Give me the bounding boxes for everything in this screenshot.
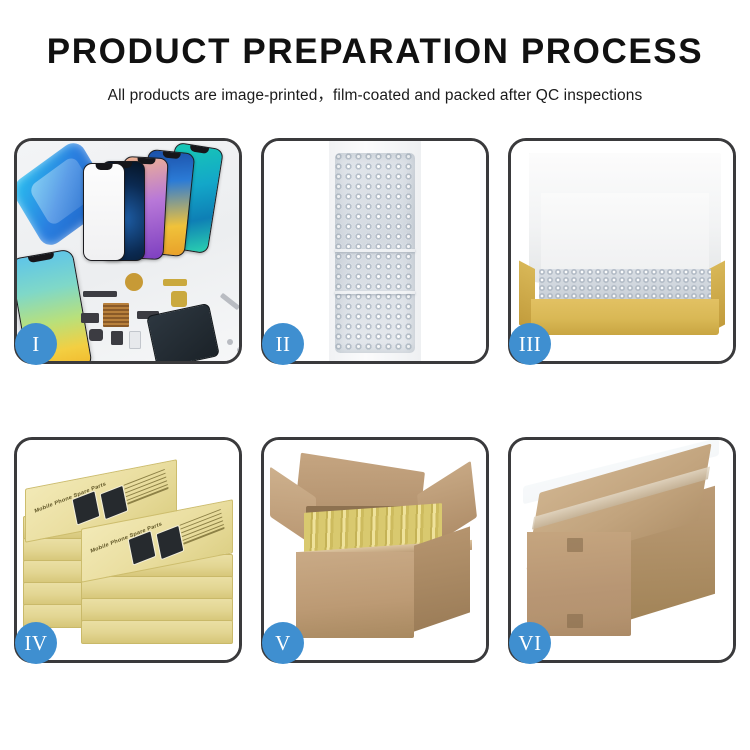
antenna-strip-icon: [83, 291, 117, 297]
step-card-1[interactable]: I: [14, 138, 242, 364]
bubble-wrap-seam-icon: [335, 249, 415, 252]
phone-notch-icon: [28, 253, 55, 263]
step-card-5[interactable]: V: [261, 437, 489, 663]
step-card-2[interactable]: II: [261, 138, 489, 364]
phone-white-front-glass-icon: [83, 163, 125, 261]
step-badge-5: V: [262, 622, 304, 664]
step-card-4[interactable]: Mobile Phone Spare Parts Mobile P: [14, 437, 242, 663]
carton-side-panel-icon: [414, 526, 470, 631]
phone-notch-icon: [189, 145, 209, 154]
flex-cable-icon: [163, 279, 187, 286]
connector-chip-icon: [103, 303, 129, 327]
carton-handle-cut-icon: [567, 538, 583, 552]
tweezers-icon: [220, 293, 239, 310]
product-preparation-page: PRODUCT PREPARATION PROCESS All products…: [0, 0, 750, 750]
box-stack-group: Mobile Phone Spare Parts Mobile P: [23, 458, 239, 654]
stacked-box-edge: [81, 576, 233, 600]
phone-notch-icon: [162, 151, 181, 159]
screw-icon: [237, 347, 239, 353]
step-badge-4: IV: [15, 622, 57, 664]
step-card-6[interactable]: VI: [508, 437, 736, 663]
page-title: PRODUCT PREPARATION PROCESS: [0, 34, 750, 69]
box-spec-lines-icon: [180, 509, 227, 553]
step-badge-2: II: [262, 323, 304, 365]
bubble-wrapped-contents-icon: [539, 269, 711, 303]
kraft-box-front-icon: [531, 299, 719, 335]
step-badge-1: I: [15, 323, 57, 365]
stacked-box-edge: [81, 598, 233, 622]
step-badge-3: III: [509, 323, 551, 365]
stacked-box-edge: [81, 620, 233, 644]
phone-fan-group: [83, 143, 239, 261]
speaker-module-icon: [125, 273, 143, 291]
carton-front-panel-icon: [296, 552, 414, 638]
bubble-wrap-seam-icon: [335, 291, 415, 294]
phone-notch-icon: [96, 164, 113, 170]
page-header: PRODUCT PREPARATION PROCESS All products…: [0, 0, 750, 105]
foam-insert-icon: [541, 193, 709, 271]
carton-handle-cut-icon: [567, 614, 583, 628]
small-part-icon: [129, 331, 141, 349]
screw-icon: [227, 339, 233, 345]
page-subtitle: All products are image-printed，film-coat…: [0, 83, 750, 105]
vibrator-icon: [81, 313, 99, 323]
process-steps-grid: I II III: [14, 138, 736, 663]
step-badge-6: VI: [509, 622, 551, 664]
bubble-wrap-bubbles-icon: [335, 153, 415, 353]
box-spec-lines-icon: [124, 469, 171, 513]
spare-parts-group: [77, 269, 239, 361]
sim-tray-icon: [111, 331, 123, 345]
button-icon: [89, 329, 103, 341]
step-card-3[interactable]: III: [508, 138, 736, 364]
camera-module-icon: [171, 291, 187, 307]
